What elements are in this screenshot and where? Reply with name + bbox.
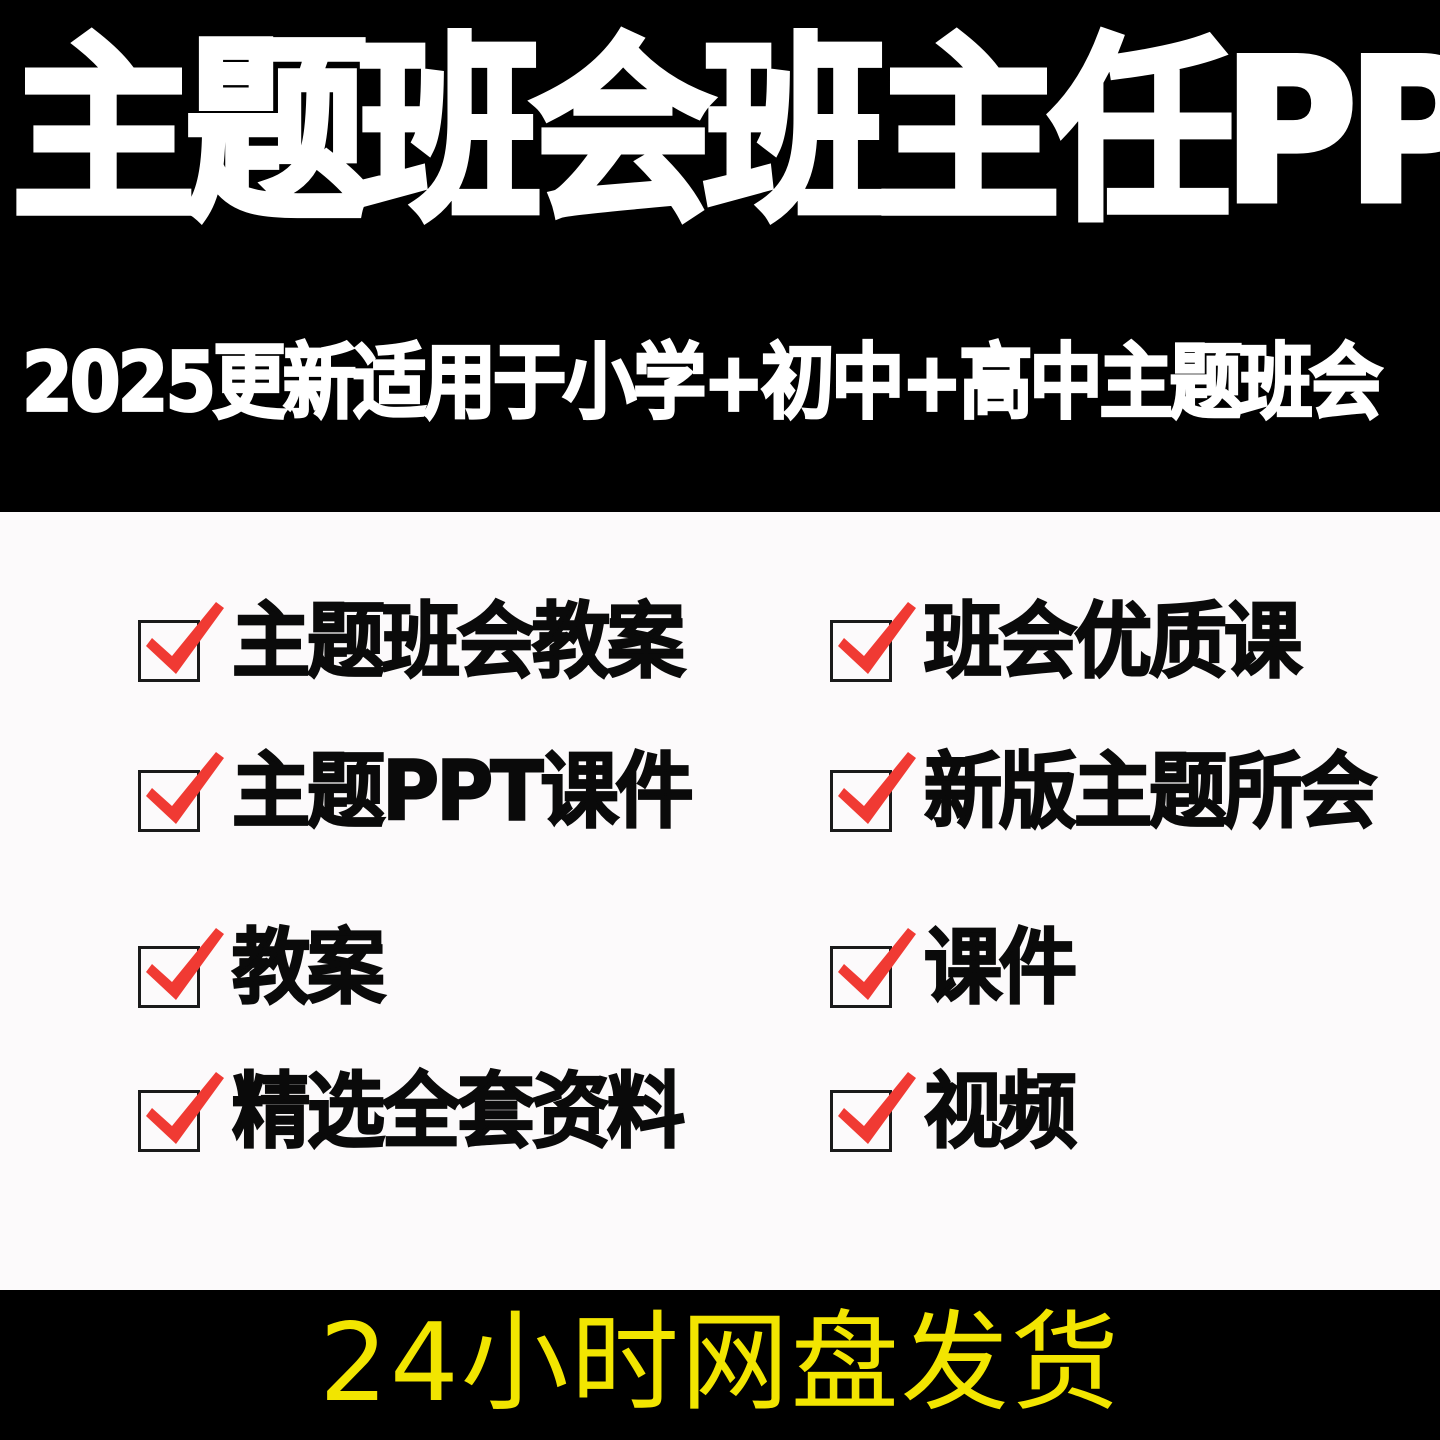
checkbox-box [138, 620, 200, 682]
checkbox-box [830, 946, 892, 1008]
page-title: 主题班会班主任PPT [12, 34, 1428, 232]
list-item-label: 新版主题所会 [924, 751, 1374, 833]
list-item-label: 班会优质课 [924, 601, 1299, 683]
list-item[interactable]: 主题PPT课件 [128, 744, 691, 840]
list-item[interactable]: 班会优质课 [820, 594, 1299, 690]
header-band: 主题班会班主任PPT 2025更新适用于小学+初中+高中主题班会 [0, 0, 1440, 512]
checkbox-checked[interactable] [820, 920, 924, 1016]
list-item-label: 精选全套资料 [232, 1071, 682, 1153]
list-item-label: 主题班会教案 [232, 601, 682, 683]
list-item-label: 课件 [924, 927, 1074, 1009]
list-item[interactable]: 精选全套资料 [128, 1064, 682, 1160]
list-item[interactable]: 视频 [820, 1064, 1074, 1160]
list-item-label: 主题PPT课件 [232, 751, 691, 833]
checkbox-checked[interactable] [128, 1064, 232, 1160]
list-item[interactable]: 新版主题所会 [820, 744, 1374, 840]
checkbox-checked[interactable] [820, 744, 924, 840]
checkbox-checked[interactable] [128, 594, 232, 690]
checkbox-checked[interactable] [820, 1064, 924, 1160]
promo-banner: 主题班会班主任PPT 2025更新适用于小学+初中+高中主题班会 主题班会教案 … [0, 0, 1440, 1440]
checkbox-box [830, 770, 892, 832]
list-item-label: 视频 [924, 1071, 1074, 1153]
checkbox-box [830, 1090, 892, 1152]
checkbox-checked[interactable] [820, 594, 924, 690]
list-item[interactable]: 教案 [128, 920, 382, 1016]
checkbox-checked[interactable] [128, 920, 232, 1016]
checkbox-box [830, 620, 892, 682]
list-item[interactable]: 课件 [820, 920, 1074, 1016]
checkbox-box [138, 946, 200, 1008]
footer-band: 24小时网盘发货 [0, 1290, 1440, 1440]
page-subtitle: 2025更新适用于小学+初中+高中主题班会 [22, 342, 1422, 424]
delivery-notice: 24小时网盘发货 [0, 1310, 1440, 1418]
checkbox-checked[interactable] [128, 744, 232, 840]
checkbox-box [138, 770, 200, 832]
list-item[interactable]: 主题班会教案 [128, 594, 682, 690]
checkbox-box [138, 1090, 200, 1152]
feature-checklist: 主题班会教案 班会优质课 主题PPT课件 [0, 512, 1440, 1290]
list-item-label: 教案 [232, 927, 382, 1009]
